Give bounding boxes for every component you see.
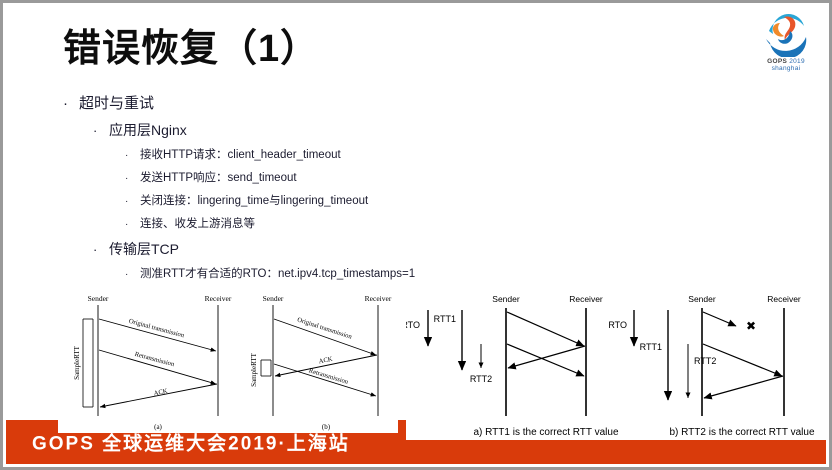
bullet-l3-label: 接收HTTP请求：client_header_timeout: [140, 144, 341, 167]
bullet-l2-label: 应用层Nginx: [109, 117, 187, 143]
bullet-l1-label: 超时与重试: [79, 91, 154, 117]
bullet-marker-icon: ·: [93, 118, 109, 144]
panel-b-sender-label: Sender: [688, 294, 716, 304]
bullet-marker-icon: ·: [125, 144, 140, 167]
bullet-l1-timeout-retry: · 超时与重试: [63, 91, 703, 117]
panel-b-rto-label: RTO: [608, 320, 627, 330]
logo-swirl-icon: [760, 9, 812, 57]
panel-b-rtt1-label: RTT1: [640, 342, 662, 352]
bullet-marker-icon: ·: [125, 190, 140, 213]
bullet-l2-label: 传输层TCP: [109, 236, 179, 262]
samplertt-figure: Sender Receiver SampleRTT Original trans…: [58, 288, 398, 433]
panel-b-caption: (b): [322, 423, 331, 431]
panel-a-bracket-label: SampleRTT: [73, 345, 81, 380]
panel-a-rtt2-label: RTT2: [470, 374, 492, 384]
bullet-l3-item: · 接收HTTP请求：client_header_timeout: [125, 144, 703, 167]
lost-packet-x-icon: ✖: [746, 319, 756, 333]
bullet-marker-icon: ·: [125, 167, 140, 190]
bullet-l3-label: 测准RTT才有合适的RTO：net.ipv4.tcp_timestamps=1: [140, 263, 415, 286]
panel-a-receiver-label: Receiver: [569, 294, 603, 304]
bullet-l3-item: · 关闭连接：lingering_time与lingering_timeout: [125, 190, 703, 213]
panel-b-sender-label: Sender: [263, 294, 284, 303]
bullet-list: · 超时与重试 · 应用层Nginx · 接收HTTP请求：client_hea…: [63, 91, 703, 286]
bullet-l3-item: · 测准RTT才有合适的RTO：net.ipv4.tcp_timestamps=…: [125, 263, 703, 286]
panel-b-rtt2-label: RTT2: [694, 356, 716, 366]
panel-a-sender-label: Sender: [492, 294, 520, 304]
bullet-l3-item: · 连接、收发上游消息等: [125, 213, 703, 236]
bullet-l2-tcp: · 传输层TCP: [93, 236, 703, 263]
rtt-ambiguity-figure: RTO RTT1 RTT2 Sender Receiver a) RTT1 is…: [406, 288, 826, 440]
panel-a-receiver-label: Receiver: [205, 294, 232, 303]
panel-a-caption: a) RTT1 is the correct RTT value: [473, 427, 618, 438]
bullet-l3-label: 连接、收发上游消息等: [140, 213, 255, 236]
bullet-marker-icon: ·: [125, 213, 140, 236]
bullet-marker-icon: ·: [63, 91, 79, 117]
panel-a-rtt1-label: RTT1: [434, 314, 456, 324]
bullet-l2-nginx: · 应用层Nginx: [93, 117, 703, 144]
panel-a-sender-label: Sender: [88, 294, 109, 303]
panel-b-receiver-label: Receiver: [767, 294, 801, 304]
page-title: 错误恢复（1）: [63, 17, 319, 72]
panel-a-rto-label: RTO: [406, 320, 420, 330]
logo-city-text: shanghai: [772, 65, 801, 72]
bullet-marker-icon: ·: [93, 237, 109, 263]
panel-b-bracket-label: SampleRTT: [250, 352, 258, 387]
logo-brand-text: GOPS: [767, 58, 787, 65]
bullet-l3-item: · 发送HTTP响应：send_timeout: [125, 167, 703, 190]
panel-b-receiver-label: Receiver: [365, 294, 392, 303]
logo-brand-line: GOPS 2019: [767, 58, 805, 65]
slide-canvas: 错误恢复（1） GOPS 2019 shanghai · 超时与重试 · 应用层…: [0, 0, 832, 470]
bullet-l3-label: 发送HTTP响应：send_timeout: [140, 167, 297, 190]
panel-b-caption: b) RTT2 is the correct RTT value: [669, 427, 814, 438]
gops-logo: GOPS 2019 shanghai: [755, 9, 817, 83]
logo-year-text: 2019: [789, 58, 805, 65]
panel-a-caption: (a): [154, 423, 162, 431]
bullet-l3-label: 关闭连接：lingering_time与lingering_timeout: [140, 190, 368, 213]
bullet-marker-icon: ·: [125, 263, 140, 286]
